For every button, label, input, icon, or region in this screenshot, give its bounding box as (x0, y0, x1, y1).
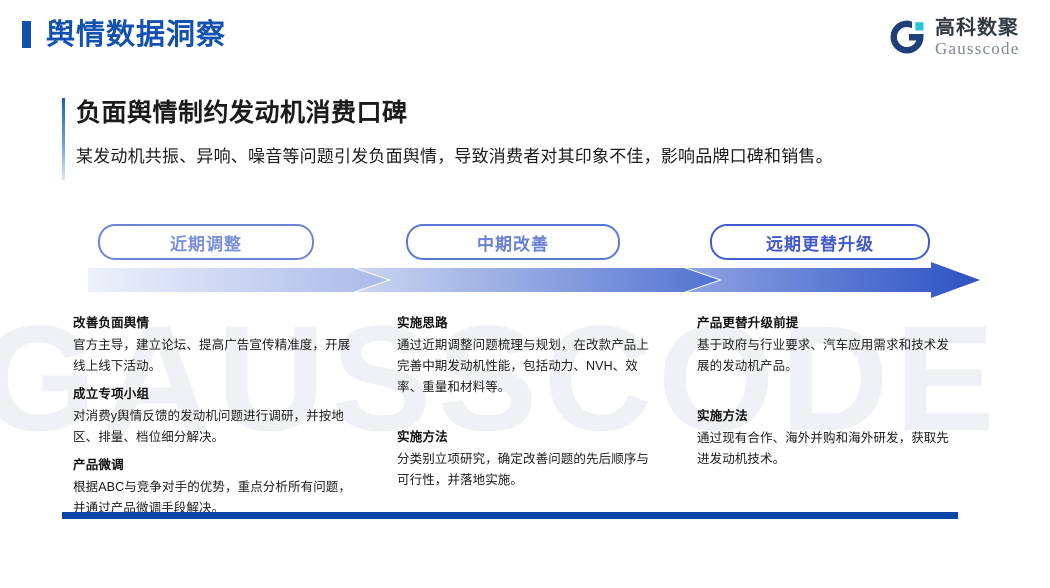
slide-root: GAUSSCODE 舆情数据洞察 高科数聚 Gausscode 负面舆情制约发动… (0, 0, 1050, 588)
content-columns: 改善负面舆情 官方主导，建立论坛、提高广告宣传精准度，开展线上线下活动。 成立专… (0, 0, 1050, 588)
column-spacer (697, 384, 959, 406)
stage-pill-mid-term[interactable]: 中期改善 (406, 224, 620, 260)
footer-bar (62, 512, 958, 519)
block-heading: 实施思路 (397, 313, 659, 334)
block-heading: 产品更替升级前提 (697, 313, 959, 334)
block-body: 对消费y舆情反馈的发动机问题进行调研，并按地区、排量、档位细分解决。 (73, 406, 353, 448)
column-spacer (397, 405, 659, 427)
block-body: 通过近期调整问题梳理与规划，在改款产品上完善中期发动机性能，包括动力、NVH、效… (397, 335, 659, 398)
block-heading: 实施方法 (397, 427, 659, 448)
block-heading: 改善负面舆情 (73, 313, 353, 334)
block-body: 分类别立项研究，确定改善问题的先后顺序与可行性，并落地实施。 (397, 449, 659, 491)
stage-pill-label: 远期更替升级 (766, 230, 874, 255)
block-heading: 实施方法 (697, 406, 959, 427)
block-heading: 产品微调 (73, 455, 353, 476)
stage-pill-long-term[interactable]: 远期更替升级 (710, 224, 930, 260)
column-mid-term: 实施思路 通过近期调整问题梳理与规划，在改款产品上完善中期发动机性能，包括动力、… (397, 313, 659, 491)
column-near-term: 改善负面舆情 官方主导，建立论坛、提高广告宣传精准度，开展线上线下活动。 成立专… (73, 313, 353, 519)
stage-pill-near-term[interactable]: 近期调整 (98, 224, 314, 260)
column-long-term: 产品更替升级前提 基于政府与行业要求、汽车应用需求和技术发展的发动机产品。 实施… (697, 313, 959, 470)
block-body: 通过现有合作、海外并购和海外研发，获取先进发动机技术。 (697, 428, 959, 470)
block-body: 基于政府与行业要求、汽车应用需求和技术发展的发动机产品。 (697, 335, 959, 377)
stage-pill-label: 近期调整 (170, 230, 242, 255)
stage-pill-label: 中期改善 (477, 230, 549, 255)
block-body: 官方主导，建立论坛、提高广告宣传精准度，开展线上线下活动。 (73, 335, 353, 377)
block-heading: 成立专项小组 (73, 384, 353, 405)
